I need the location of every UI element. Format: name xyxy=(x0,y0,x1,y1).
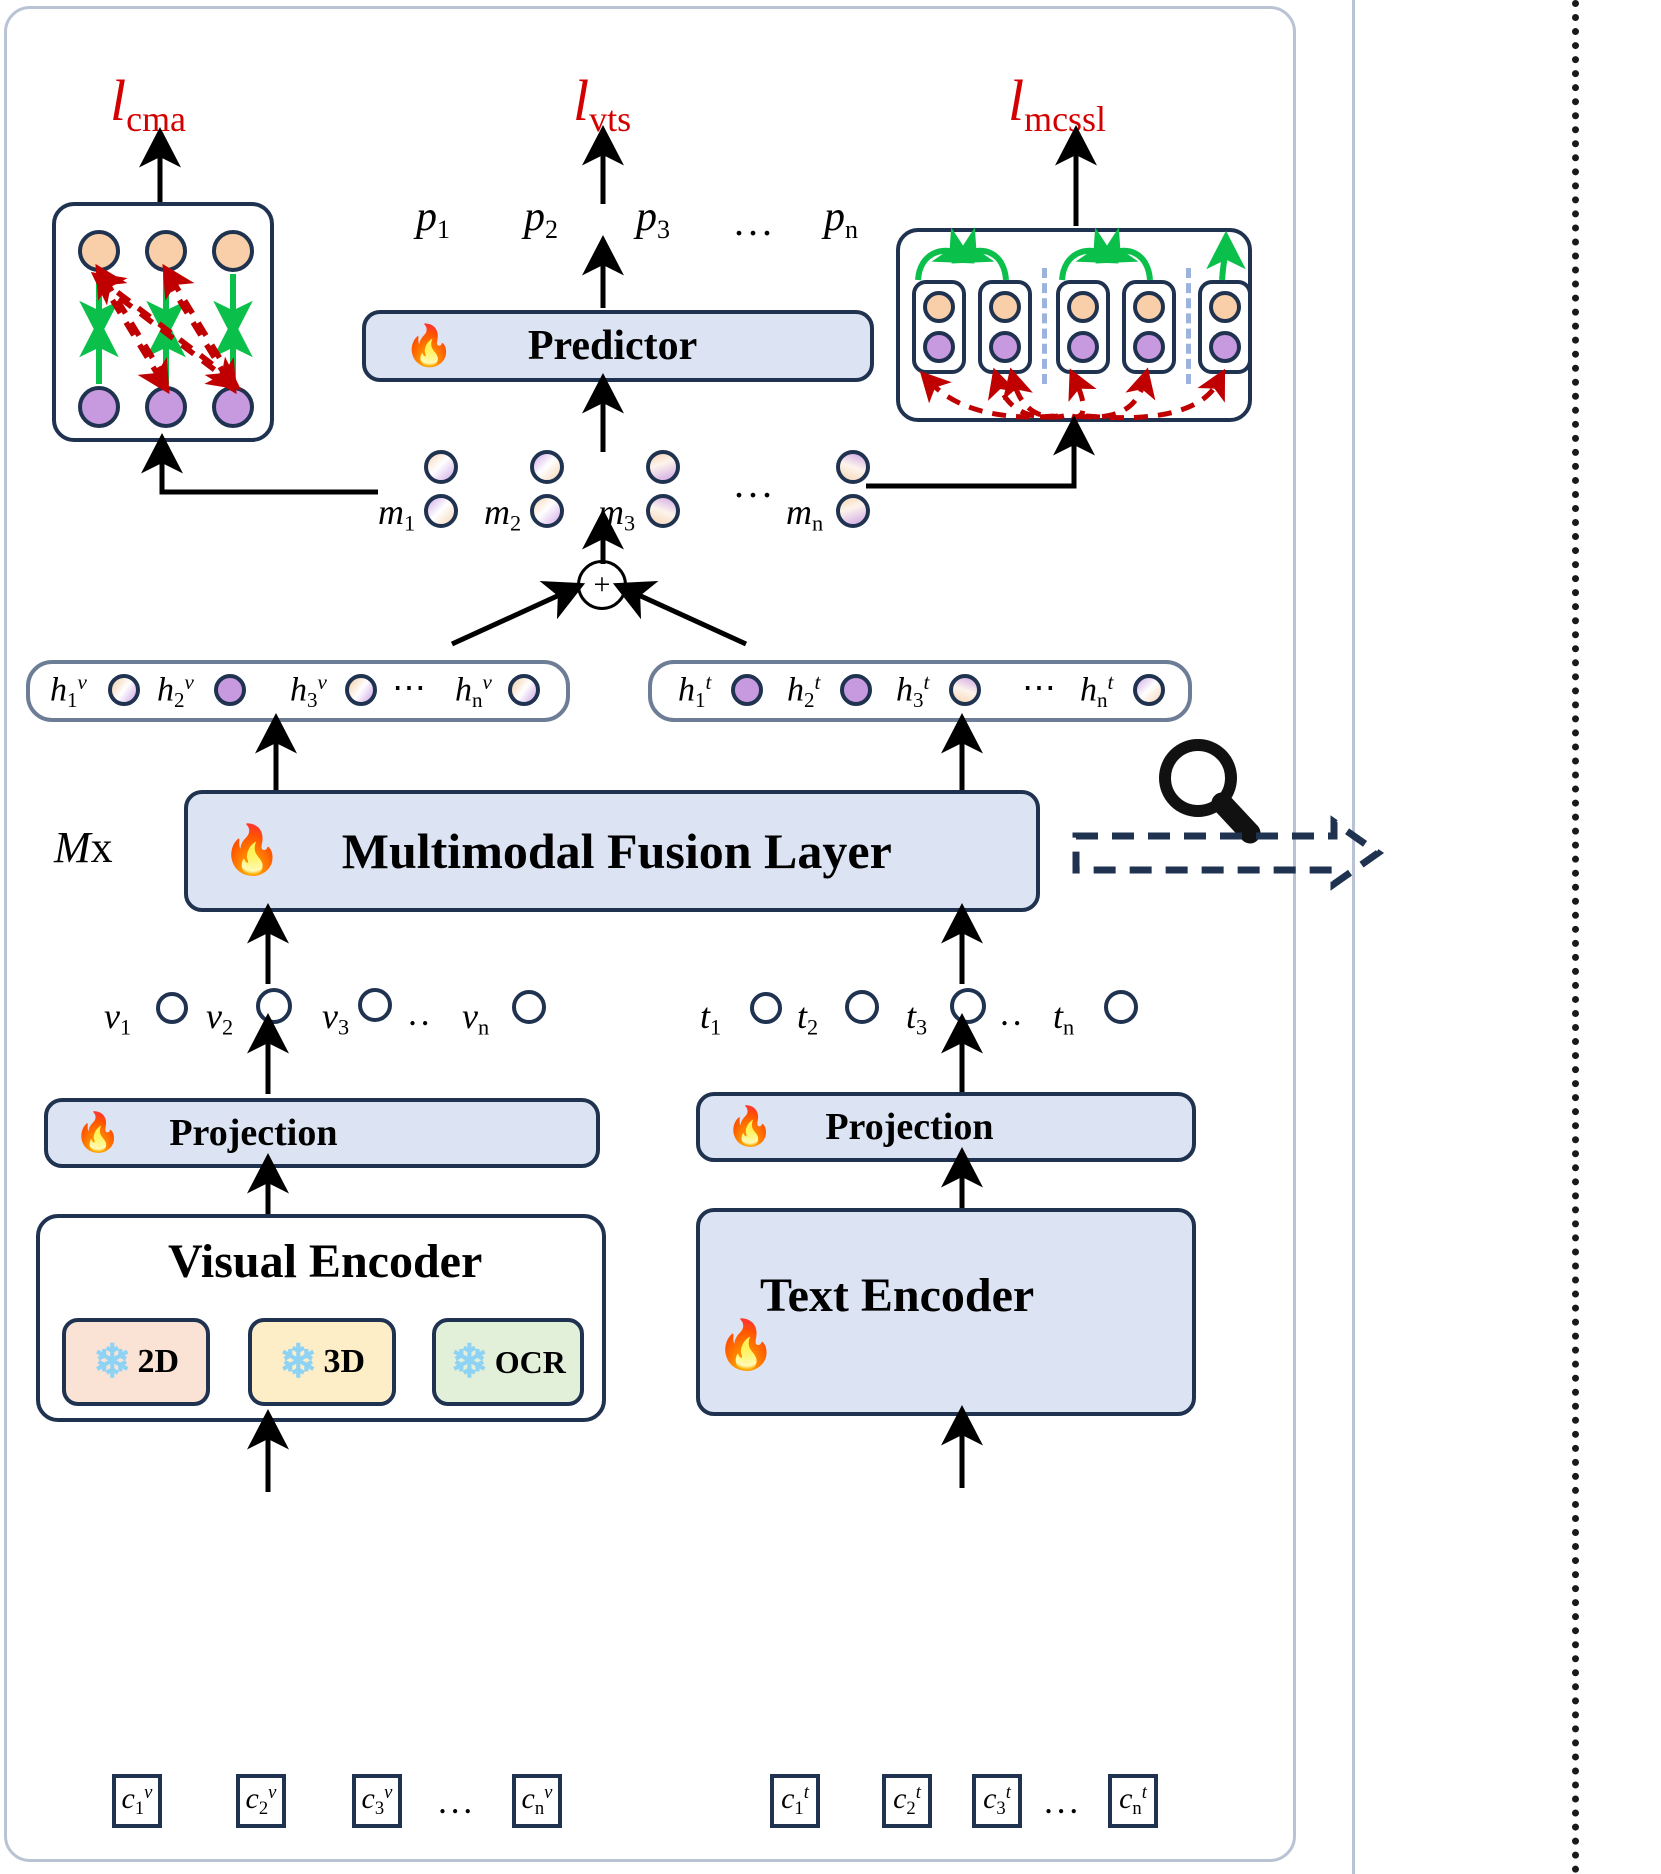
snowflake-icon: ❄ xyxy=(93,1339,132,1385)
hidden-text-label-3: h3t xyxy=(896,672,929,711)
mcssl-text-dot-4 xyxy=(1133,331,1165,363)
loss-vts-symbol: l xyxy=(573,68,589,133)
arrow-m-to-predictor xyxy=(583,388,623,456)
connector-hv-ht-to-sum xyxy=(440,578,760,650)
arrow-sum-to-m xyxy=(583,524,623,568)
arrow-fusion-to-hv xyxy=(256,728,296,796)
input-visual-token-3: c3v xyxy=(352,1774,402,1828)
text-encoder-label: Text Encoder xyxy=(760,1268,1034,1323)
input-text-ellipsis: ... xyxy=(1044,1780,1082,1822)
callout-dashed-arrow xyxy=(1072,818,1392,888)
input-text-token-3: c3t xyxy=(972,1774,1022,1828)
mcssl-pair-capsule-4 xyxy=(1122,280,1176,374)
hidden-text-dot-2 xyxy=(840,674,872,706)
mcssl-pair-capsule-1 xyxy=(912,280,966,374)
input-text-token-2: c2t xyxy=(882,1774,932,1828)
encoder-chip-2d[interactable]: ❄ 2D xyxy=(62,1318,210,1406)
hidden-text-dot-1 xyxy=(731,674,763,706)
predictor-block[interactable]: 🔥 Predictor xyxy=(362,310,874,382)
visual-projection-block[interactable]: 🔥 Projection xyxy=(44,1098,600,1168)
fusion-layer-label: Multimodal Fusion Layer xyxy=(342,822,892,880)
flame-icon: 🔥 xyxy=(726,1108,773,1146)
input-visual-token-2: c2v xyxy=(236,1774,286,1828)
mcssl-negative-arrows xyxy=(896,368,1256,422)
mcssl-pair-capsule-2 xyxy=(978,280,1032,374)
hidden-visual-label-3: h3v xyxy=(290,672,327,711)
mcssl-text-dot-3 xyxy=(1067,331,1099,363)
mcssl-text-dot-5 xyxy=(1209,331,1241,363)
predictor-label: Predictor xyxy=(528,322,697,370)
prediction-ellipsis: ... xyxy=(734,198,776,245)
flame-icon: 🔥 xyxy=(74,1114,121,1152)
text-token-label-n: tn xyxy=(1053,998,1074,1039)
mcssl-visual-dot-3 xyxy=(1067,291,1099,323)
hidden-text-label-1: h1t xyxy=(678,672,711,711)
visual-token-label-1: v1 xyxy=(104,998,131,1039)
mcssl-text-dot-1 xyxy=(923,331,955,363)
arrow-t-to-fusion xyxy=(942,918,982,988)
text-token-dot-2 xyxy=(845,990,879,1024)
fused-token-dot-2 xyxy=(530,450,564,484)
arrow-vts-up xyxy=(583,140,623,208)
hidden-visual-label-1: h1v xyxy=(50,672,87,711)
mcssl-visual-dot-4 xyxy=(1133,291,1165,323)
arrow-mcssl-up xyxy=(1056,140,1096,230)
hidden-visual-label-n: hnv xyxy=(455,672,492,711)
arrow-fusion-to-ht xyxy=(942,728,982,796)
loss-mcssl-symbol: l xyxy=(1008,68,1024,133)
fusion-repeat-label: Mx xyxy=(54,826,113,870)
fused-token-dot-2b xyxy=(530,494,564,528)
hidden-text-label-n: hnt xyxy=(1080,672,1113,711)
text-token-dot-3 xyxy=(950,988,986,1024)
mcssl-visual-dot-2 xyxy=(989,291,1021,323)
figure-canvas: lcma xyxy=(0,0,1661,1874)
visual-token-ellipsis: .. xyxy=(408,992,433,1034)
hidden-visual-dot-1 xyxy=(108,674,140,706)
mcssl-positive-arrows xyxy=(896,232,1256,292)
hidden-visual-dot-n xyxy=(508,674,540,706)
fused-token-ellipsis: ... xyxy=(734,460,776,507)
visual-token-dot-1 xyxy=(156,992,188,1024)
text-token-label-3: t3 xyxy=(906,998,927,1039)
text-token-label-2: t2 xyxy=(797,998,818,1039)
mcssl-visual-dot-5 xyxy=(1209,291,1241,323)
flame-icon: 🔥 xyxy=(716,1322,776,1370)
loss-cma-subscript: cma xyxy=(126,99,186,139)
fused-token-dot-3b xyxy=(646,494,680,528)
hidden-text-dot-3 xyxy=(949,674,981,706)
snowflake-icon: ❄ xyxy=(279,1339,318,1385)
text-projection-block[interactable]: 🔥 Projection xyxy=(696,1092,1196,1162)
loss-mcssl-label: lmcssl xyxy=(1008,72,1106,138)
arrow-cv-to-visual-encoder xyxy=(248,1424,288,1496)
loss-vts-label: lvts xyxy=(573,72,631,138)
arrow-visual-projection-out xyxy=(248,1028,288,1098)
arrow-text-projection-out xyxy=(942,1028,982,1098)
text-projection-label: Projection xyxy=(825,1105,993,1149)
panel-divider-line xyxy=(1352,0,1355,1874)
flame-icon: 🔥 xyxy=(222,827,282,875)
fused-token-label-1: m1 xyxy=(378,494,415,535)
hidden-visual-dot-2 xyxy=(214,674,246,706)
loss-mcssl-subscript: mcssl xyxy=(1024,99,1106,139)
chip-label-3d: 3D xyxy=(323,1343,365,1381)
loss-cma-label: lcma xyxy=(110,72,186,138)
hidden-visual-label-2: h2v xyxy=(157,672,194,711)
mcssl-text-dot-2 xyxy=(989,331,1021,363)
hidden-text-dot-n xyxy=(1133,674,1165,706)
visual-encoder-label: Visual Encoder xyxy=(168,1234,482,1289)
prediction-label-1: p1 xyxy=(416,196,450,243)
mcssl-pair-capsule-5 xyxy=(1198,280,1252,374)
cma-alignment-arrows xyxy=(52,202,274,442)
fused-token-dot-1 xyxy=(424,450,458,484)
fused-token-label-2: m2 xyxy=(484,494,521,535)
dotted-boundary-line xyxy=(1572,0,1579,1874)
visual-token-dot-3 xyxy=(358,988,392,1022)
chip-label-ocr: OCR xyxy=(495,1344,566,1381)
text-token-label-1: t1 xyxy=(700,998,721,1039)
snowflake-icon: ❄ xyxy=(450,1339,489,1385)
hidden-text-label-2: h2t xyxy=(787,672,820,711)
connector-m-to-mcssl xyxy=(862,420,1102,492)
flame-icon: 🔥 xyxy=(404,326,454,366)
connector-m-to-cma xyxy=(150,440,380,500)
text-token-ellipsis: .. xyxy=(1000,992,1025,1034)
arrow-ct-to-text-encoder xyxy=(942,1420,982,1492)
input-visual-token-1: c1v xyxy=(112,1774,162,1828)
fused-token-dot-1b xyxy=(424,494,458,528)
loss-vts-subscript: vts xyxy=(589,99,631,139)
hidden-text-ellipsis: ⋯ xyxy=(1022,668,1059,708)
input-text-token-n: cnt xyxy=(1108,1774,1158,1828)
encoder-chip-3d[interactable]: ❄ 3D xyxy=(248,1318,396,1406)
arrow-predictor-out xyxy=(583,250,623,312)
visual-token-dot-2 xyxy=(256,988,292,1024)
visual-token-dot-n xyxy=(512,990,546,1024)
mcssl-pair-capsule-3 xyxy=(1056,280,1110,374)
fused-token-label-n: mn xyxy=(786,494,823,535)
input-text-token-1: c1t xyxy=(770,1774,820,1828)
text-token-dot-1 xyxy=(750,992,782,1024)
fused-token-dot-nb xyxy=(836,494,870,528)
loss-cma-symbol: l xyxy=(110,68,126,133)
arrow-v-to-fusion xyxy=(248,918,288,988)
encoder-chip-ocr[interactable]: ❄ OCR xyxy=(432,1318,584,1406)
visual-projection-label: Projection xyxy=(169,1111,337,1155)
prediction-label-2: p2 xyxy=(524,196,558,243)
multimodal-fusion-layer-block[interactable]: 🔥 Multimodal Fusion Layer xyxy=(184,790,1040,912)
hidden-visual-ellipsis: ⋯ xyxy=(392,668,429,708)
visual-token-label-2: v2 xyxy=(206,998,233,1039)
mcssl-visual-dot-1 xyxy=(923,291,955,323)
chip-label-2d: 2D xyxy=(137,1343,179,1381)
fused-token-dot-3 xyxy=(646,450,680,484)
text-token-dot-n xyxy=(1104,990,1138,1024)
hidden-visual-dot-3 xyxy=(345,674,377,706)
input-visual-token-n: cnv xyxy=(512,1774,562,1828)
prediction-label-3: p3 xyxy=(636,196,670,243)
prediction-label-n: pn xyxy=(824,196,858,243)
visual-token-label-3: v3 xyxy=(322,998,349,1039)
visual-token-label-n: vn xyxy=(462,998,489,1039)
input-visual-ellipsis: ... xyxy=(438,1780,476,1822)
